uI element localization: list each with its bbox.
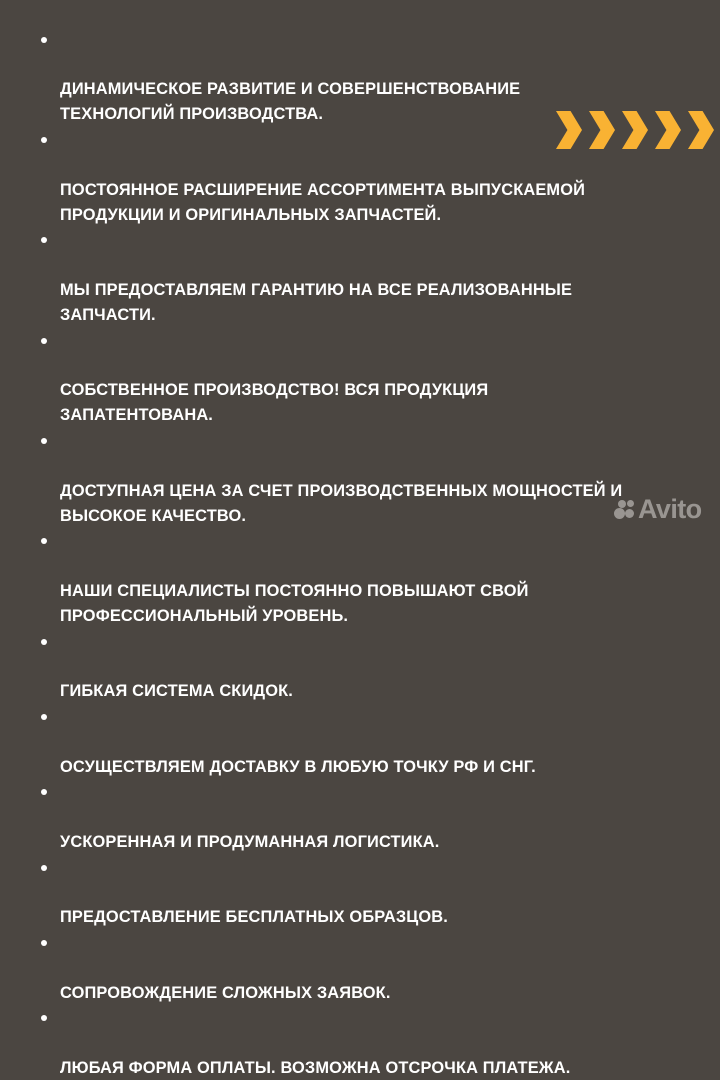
list-item-label: ПРЕДОСТАВЛЕНИЕ БЕСПЛАТНЫХ ОБРАЗЦОВ. [60,908,448,926]
chevron-right-icon [688,111,714,149]
list-item: ЛЮБАЯ ФОРМА ОПЛАТЫ. ВОЗМОЖНА ОТСРОЧКА ПЛ… [36,1006,636,1080]
list-item-label: ЛЮБАЯ ФОРМА ОПЛАТЫ. ВОЗМОЖНА ОТСРОЧКА ПЛ… [60,1059,570,1077]
list-item: ДИНАМИЧЕСКОЕ РАЗВИТИЕ И СОВЕРШЕНСТВОВАНИ… [36,27,636,127]
list-item-label: ДИНАМИЧЕСКОЕ РАЗВИТИЕ И СОВЕРШЕНСТВОВАНИ… [60,80,520,123]
list-item-label: ПОСТОЯННОЕ РАСШИРЕНИЕ АССОРТИМЕНТА ВЫПУС… [60,181,585,224]
list-item: СОБСТВЕННОЕ ПРОИЗВОДСТВО! ВСЯ ПРОДУКЦИЯ … [36,328,636,428]
list-item: ПРЕДОСТАВЛЕНИЕ БЕСПЛАТНЫХ ОБРАЗЦОВ. [36,855,636,930]
list-item-label: УСКОРЕННАЯ И ПРОДУМАННАЯ ЛОГИСТИКА. [60,833,439,851]
list-item: МЫ ПРЕДОСТАВЛЯЕМ ГАРАНТИЮ НА ВСЕ РЕАЛИЗО… [36,228,636,328]
bullet-dot-icon [41,789,47,795]
bullet-dot-icon [41,438,47,444]
benefits-list: ДИНАМИЧЕСКОЕ РАЗВИТИЕ И СОВЕРШЕНСТВОВАНИ… [36,27,636,1080]
list-item-label: ДОСТУПНАЯ ЦЕНА ЗА СЧЕТ ПРОИЗВОДСТВЕННЫХ … [60,482,622,525]
avito-wordmark: Avito [638,493,702,525]
slide-canvas: ДИНАМИЧЕСКОЕ РАЗВИТИЕ И СОВЕРШЕНСТВОВАНИ… [0,0,720,540]
list-item: УСКОРЕННАЯ И ПРОДУМАННАЯ ЛОГИСТИКА. [36,780,636,855]
bullet-dot-icon [41,137,47,143]
bullet-dot-icon [41,538,47,544]
list-item-label: ГИБКАЯ СИСТЕМА СКИДОК. [60,682,293,700]
list-item: ОСУЩЕСТВЛЯЕМ ДОСТАВКУ В ЛЮБУЮ ТОЧКУ РФ И… [36,705,636,780]
bullet-dot-icon [41,714,47,720]
list-item-label: МЫ ПРЕДОСТАВЛЯЕМ ГАРАНТИЮ НА ВСЕ РЕАЛИЗО… [60,281,572,324]
bullet-dot-icon [41,237,47,243]
list-item: ГИБКАЯ СИСТЕМА СКИДОК. [36,629,636,704]
avito-dots-logo-icon [614,497,638,521]
list-item-label: СОБСТВЕННОЕ ПРОИЗВОДСТВО! ВСЯ ПРОДУКЦИЯ … [60,381,488,424]
list-item-label: НАШИ СПЕЦИАЛИСТЫ ПОСТОЯННО ПОВЫШАЮТ СВОЙ… [60,582,529,625]
bullet-dot-icon [41,1015,47,1021]
list-item-label: СОПРОВОЖДЕНИЕ СЛОЖНЫХ ЗАЯВОК. [60,984,391,1002]
list-item: ПОСТОЯННОЕ РАСШИРЕНИЕ АССОРТИМЕНТА ВЫПУС… [36,127,636,227]
bullet-dot-icon [41,865,47,871]
bullet-dot-icon [41,338,47,344]
chevron-right-icon [655,111,681,149]
bullet-dot-icon [41,639,47,645]
bullet-dot-icon [41,940,47,946]
list-item: НАШИ СПЕЦИАЛИСТЫ ПОСТОЯННО ПОВЫШАЮТ СВОЙ… [36,529,636,629]
list-item: ДОСТУПНАЯ ЦЕНА ЗА СЧЕТ ПРОИЗВОДСТВЕННЫХ … [36,429,636,529]
avito-watermark: Avito [614,493,712,527]
bullet-dot-icon [41,37,47,43]
list-item-label: ОСУЩЕСТВЛЯЕМ ДОСТАВКУ В ЛЮБУЮ ТОЧКУ РФ И… [60,758,536,776]
list-item: СОПРОВОЖДЕНИЕ СЛОЖНЫХ ЗАЯВОК. [36,930,636,1005]
